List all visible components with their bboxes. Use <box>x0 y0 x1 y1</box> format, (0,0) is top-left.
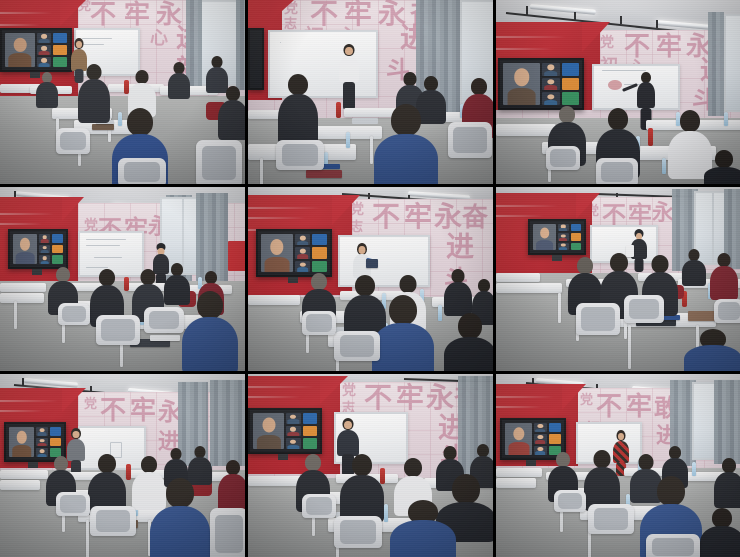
photo-cell-5[interactable]: 不 牢 永 奋 党 志 初 心 进 斗 <box>248 187 493 371</box>
photo-cell-4[interactable]: 不 牢 永 党 初 心 <box>0 187 245 371</box>
photo-cell-2[interactable]: 不 牢 永 奋 党 志 初 心 进 斗 国 <box>248 0 493 184</box>
photo-cell-1[interactable]: 不 牢 永 奋 党 记 初 心 进 新 <box>0 0 245 184</box>
photo-cell-9[interactable]: 不 牢 敢 党 初 心 进 <box>496 374 740 557</box>
photo-cell-3[interactable]: 不 牢 永 奋 党 初 心 进 斗 <box>496 0 740 184</box>
photo-collage-grid: 不 牢 永 奋 党 记 初 心 进 新 <box>0 0 740 557</box>
photo-cell-7[interactable]: 不 牢 永 党 初 心 进 <box>0 374 245 557</box>
photo-cell-6[interactable]: 不 牢 永 党 初 心 <box>496 187 740 371</box>
photo-cell-8[interactable]: 不 牢 永 奋 党 志 初 心 进 斗 <box>248 374 493 557</box>
